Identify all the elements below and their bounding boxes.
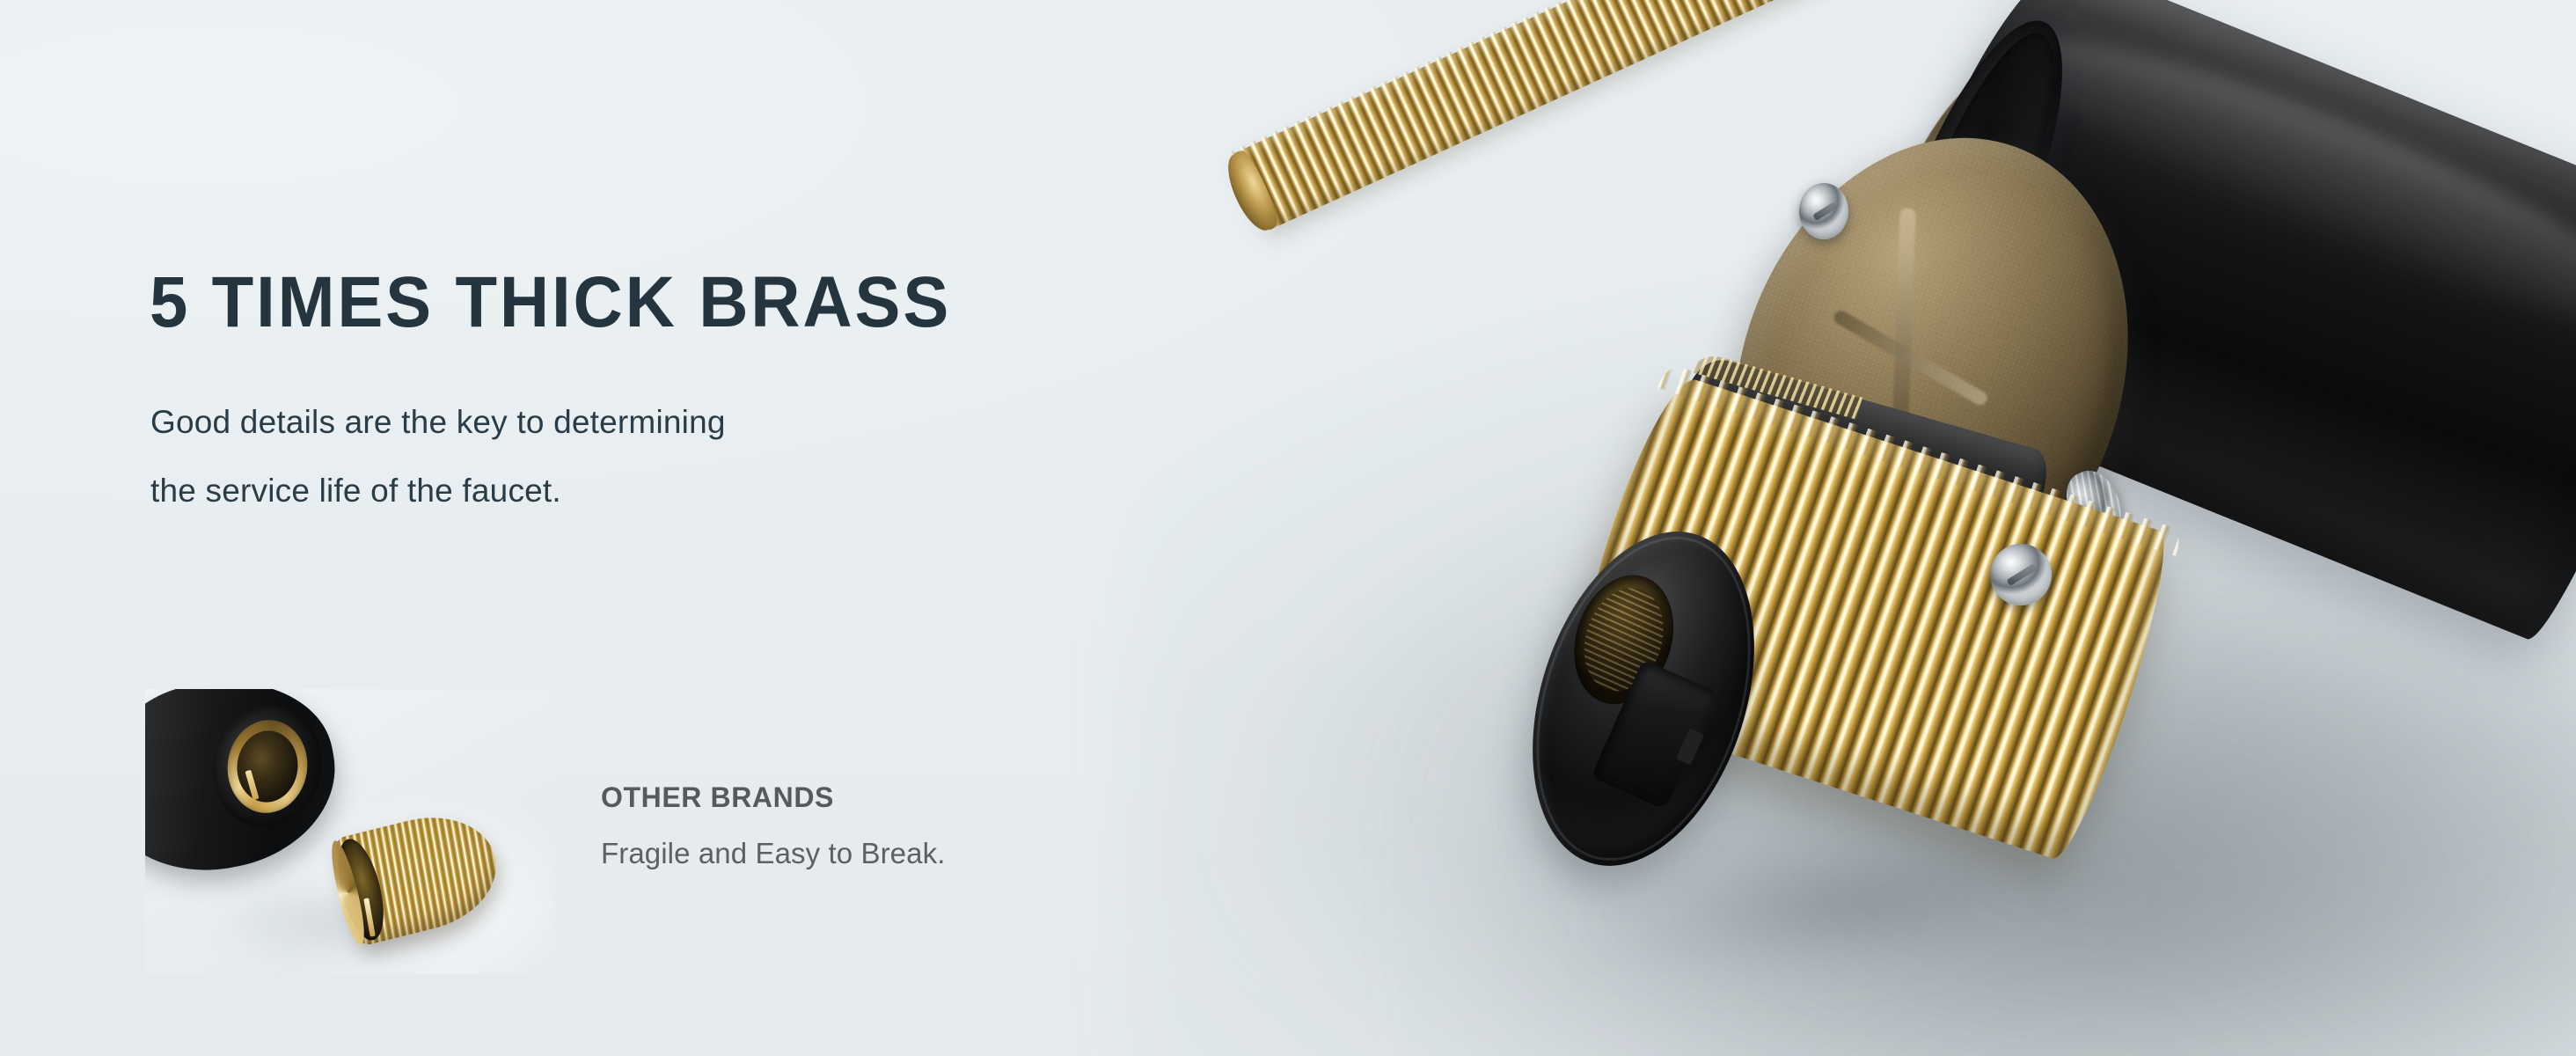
comparison-caption: Fragile and Easy to Break.	[601, 837, 945, 870]
product-banner: 5 TIMES THICK BRASS Good details are the…	[0, 0, 2576, 1056]
page-subtitle: Good details are the key to determining …	[150, 388, 726, 525]
page-title: 5 TIMES THICK BRASS	[150, 267, 951, 339]
chrome-set-screw-front	[1990, 544, 2052, 605]
screw-slot-front	[2007, 563, 2038, 586]
unrolled-brass-thread-strip	[1230, 0, 1841, 232]
screw-slot	[1812, 202, 1838, 221]
comparison-label: OTHER BRANDS	[601, 781, 834, 814]
other-brands-inset-photo	[145, 689, 555, 974]
chrome-set-screw-top	[1799, 183, 1848, 239]
